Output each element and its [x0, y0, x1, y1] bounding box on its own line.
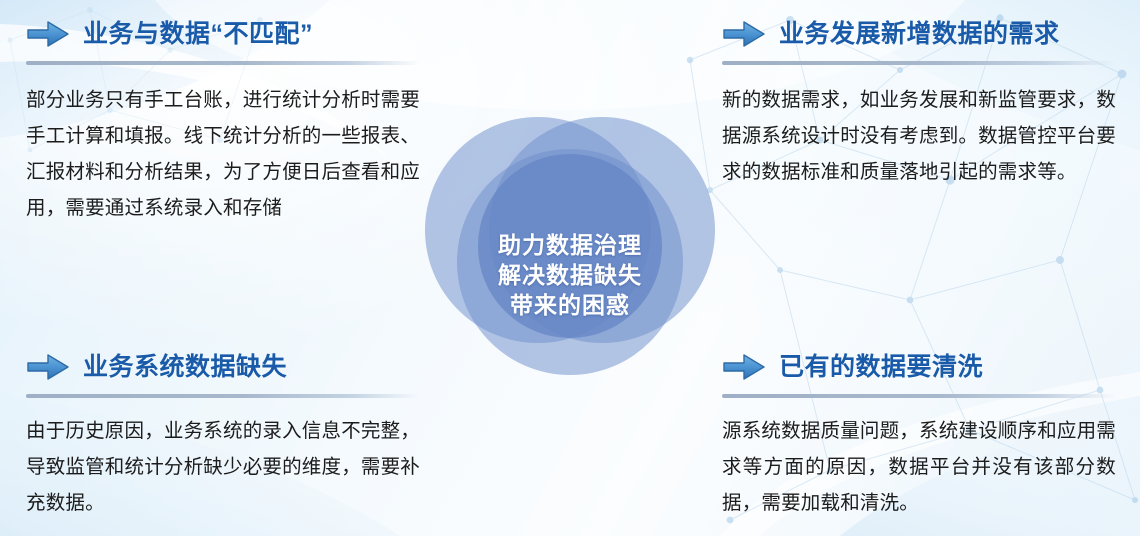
- arrow-right-icon: [26, 20, 70, 48]
- panel-title: 业务发展新增数据的需求: [779, 22, 1060, 47]
- panel-divider: [722, 394, 1116, 398]
- panel-body-text: 新的数据需求，如业务发展和新监管要求，数据源系统设计时没有考虑到。数据管控平台要…: [722, 82, 1116, 190]
- arrow-right-icon: [722, 20, 766, 48]
- arrow-right-icon: [722, 353, 766, 381]
- panel-new-data-demand: 业务发展新增数据的需求 新的数据需求，如业务发展和新监管要求，数据源系统设计时没…: [722, 14, 1116, 190]
- arrow-right-icon: [26, 353, 70, 381]
- panel-system-data-missing: 业务系统数据缺失 由于历史原因，业务系统的录入信息不完整，导致监管和统计分析缺少…: [26, 347, 420, 521]
- panel-divider: [26, 394, 420, 398]
- panel-existing-data-cleaning: 已有的数据要清洗 源系统数据质量问题，系统建设顺序和应用需求等方面的原因，数据平…: [722, 347, 1116, 521]
- center-label: 助力数据治理 解决数据缺失 带来的困惑: [388, 230, 752, 320]
- panel-title: 已有的数据要清洗: [779, 355, 983, 380]
- panel-title: 业务与数据“不匹配”: [83, 22, 313, 47]
- panel-body-text: 由于历史原因，业务系统的录入信息不完整，导致监管和统计分析缺少必要的维度，需要补…: [26, 413, 420, 521]
- panel-header: 业务与数据“不匹配”: [26, 14, 420, 54]
- panel-business-data-mismatch: 业务与数据“不匹配” 部分业务只有手工台账，进行统计分析时需要手工计算和填报。线…: [26, 14, 420, 226]
- panel-header: 业务系统数据缺失: [26, 347, 420, 387]
- panel-divider: [26, 61, 420, 65]
- center-venn-graphic: 助力数据治理 解决数据缺失 带来的困惑: [388, 112, 752, 380]
- panel-body-text: 源系统数据质量问题，系统建设顺序和应用需求等方面的原因，数据平台并没有该部分数据…: [722, 413, 1116, 521]
- panel-header: 已有的数据要清洗: [722, 347, 1116, 387]
- panel-body-text: 部分业务只有手工台账，进行统计分析时需要手工计算和填报。线下统计分析的一些报表、…: [26, 82, 420, 226]
- panel-title: 业务系统数据缺失: [83, 355, 287, 380]
- panel-header: 业务发展新增数据的需求: [722, 14, 1116, 54]
- panel-divider: [722, 61, 1116, 65]
